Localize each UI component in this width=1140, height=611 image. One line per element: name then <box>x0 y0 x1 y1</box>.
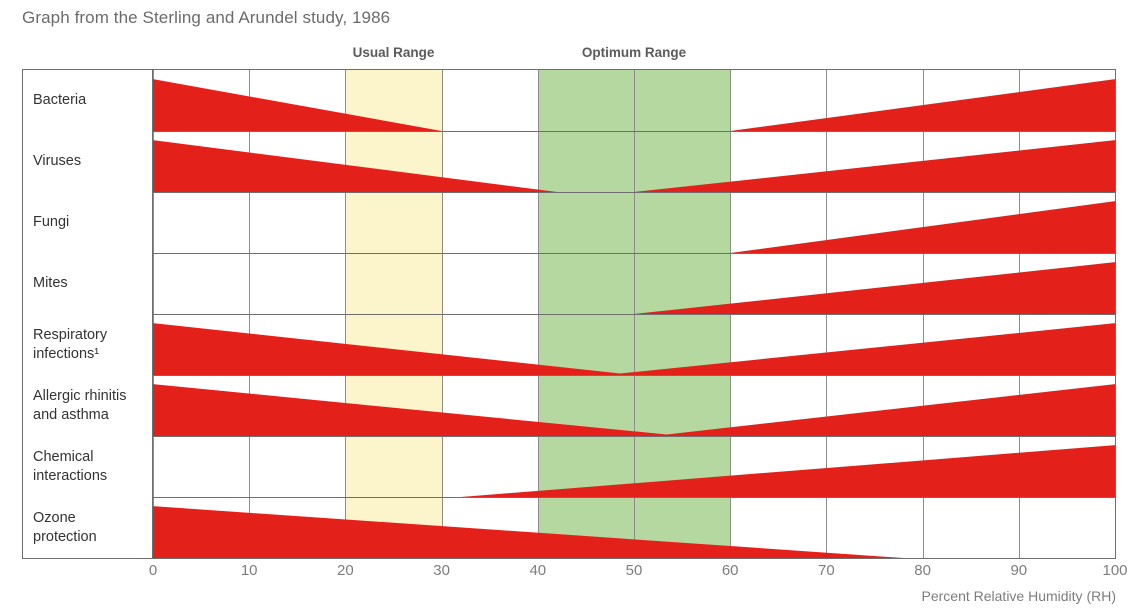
series-wedge-4-1 <box>605 323 1115 375</box>
series-row-3 <box>634 262 1115 314</box>
band-header-label-1: Optimum Range <box>582 45 686 60</box>
row-label-line: Allergic rhinitis <box>33 387 126 405</box>
series-row-1 <box>153 140 1115 192</box>
x-tick-70: 70 <box>818 562 835 579</box>
row-separator-4 <box>23 314 1115 315</box>
row-separator-1 <box>23 131 1115 132</box>
row-label-line: infections¹ <box>33 345 107 363</box>
row-separator-7 <box>23 497 1115 498</box>
series-wedge-0-0 <box>153 79 442 131</box>
chart-frame: BacteriaVirusesFungiMitesRespiratoryinfe… <box>22 69 1116 559</box>
row-label-fungi: Fungi <box>33 192 151 253</box>
series-wedge-5-1 <box>653 384 1115 436</box>
row-label-column: BacteriaVirusesFungiMitesRespiratoryinfe… <box>23 70 153 558</box>
x-tick-50: 50 <box>626 562 643 579</box>
series-row-4 <box>153 323 1115 375</box>
x-tick-30: 30 <box>433 562 450 579</box>
x-tick-40: 40 <box>529 562 546 579</box>
series-wedge-5-0 <box>153 384 682 436</box>
x-tick-20: 20 <box>337 562 354 579</box>
row-separator-2 <box>23 192 1115 193</box>
row-label-allergic-rhinitis-and-asthma: Allergic rhinitisand asthma <box>33 375 151 436</box>
x-tick-10: 10 <box>241 562 258 579</box>
series-wedge-3-0 <box>634 262 1115 314</box>
row-label-viruses: Viruses <box>33 131 151 192</box>
series-row-0 <box>153 79 1115 131</box>
row-label-line: Mites <box>33 274 68 292</box>
series-row-7 <box>153 506 903 558</box>
row-label-bacteria: Bacteria <box>33 70 151 131</box>
x-axis-ticks: 0102030405060708090100 <box>153 562 1115 590</box>
page-title: Graph from the Sterling and Arundel stud… <box>22 8 390 28</box>
x-tick-90: 90 <box>1010 562 1027 579</box>
series-wedge-7-0 <box>153 506 903 558</box>
band-label-row: Usual RangeOptimum Range <box>0 45 1140 67</box>
row-label-line: Bacteria <box>33 91 86 109</box>
row-label-line: interactions <box>33 467 107 485</box>
x-axis-title: Percent Relative Humidity (RH) <box>922 588 1117 604</box>
row-separator-6 <box>23 436 1115 437</box>
x-tick-0: 0 <box>149 562 157 579</box>
row-label-line: Respiratory <box>33 326 107 344</box>
x-tick-80: 80 <box>914 562 931 579</box>
row-label-mites: Mites <box>33 253 151 314</box>
series-wedge-0-1 <box>730 79 1115 131</box>
row-separator-3 <box>23 253 1115 254</box>
row-label-line: Viruses <box>33 152 81 170</box>
series-wedge-2-0 <box>730 201 1115 253</box>
row-separator-5 <box>23 375 1115 376</box>
series-wedge-6-0 <box>461 445 1115 497</box>
row-label-ozone-protection: Ozoneprotection <box>33 497 151 558</box>
band-header-label-0: Usual Range <box>353 45 435 60</box>
series-row-6 <box>461 445 1115 497</box>
x-tick-100: 100 <box>1102 562 1127 579</box>
row-label-line: Fungi <box>33 213 69 231</box>
row-label-line: Chemical <box>33 448 107 466</box>
row-label-line: and asthma <box>33 406 126 424</box>
row-label-line: protection <box>33 528 97 546</box>
series-wedge-4-0 <box>153 323 634 375</box>
series-row-2 <box>730 201 1115 253</box>
row-label-line: Ozone <box>33 509 97 527</box>
row-label-chemical-interactions: Chemicalinteractions <box>33 436 151 497</box>
series-wedge-1-1 <box>634 140 1115 192</box>
x-tick-60: 60 <box>722 562 739 579</box>
row-label-respiratory-infections: Respiratoryinfections¹ <box>33 314 151 375</box>
series-wedge-1-0 <box>153 140 557 192</box>
series-row-5 <box>153 384 1115 436</box>
